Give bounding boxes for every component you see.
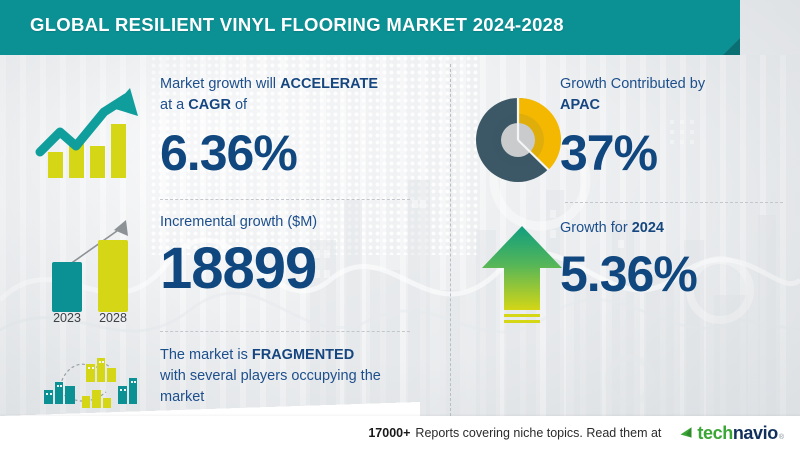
growth-2024-caption: Growth for 2024 xyxy=(560,218,790,239)
fragmented-market-cityscape-icon xyxy=(26,348,144,410)
panel-incremental-growth: Incremental growth ($M) 18899 xyxy=(160,212,435,302)
cagr-caption-accelerate: ACCELERATE xyxy=(280,76,378,92)
cagr-caption-line2-prefix: at a xyxy=(160,97,188,113)
fragmented-caption: The market is FRAGMENTED with several pl… xyxy=(160,345,440,408)
header-banner: GLOBAL RESILIENT VINYL FLOORING MARKET 2… xyxy=(0,0,740,55)
cagr-caption-cagr: CAGR xyxy=(188,97,231,113)
panel-growth-2024: Growth for 2024 5.36% xyxy=(560,218,790,303)
bar-label-2028: 2028 xyxy=(99,311,127,322)
logo-text-navio: navio xyxy=(733,423,778,444)
incremental-growth-value: 18899 xyxy=(160,235,435,302)
cagr-value: 6.36% xyxy=(160,124,435,182)
fragmented-line1-prefix: The market is xyxy=(160,347,252,363)
fragmented-line2: with several players occupying the xyxy=(160,368,381,384)
growth-2024-year: 2024 xyxy=(632,220,664,236)
infographic-canvas: GLOBAL RESILIENT VINYL FLOORING MARKET 2… xyxy=(0,0,800,450)
footer-tagline: Reports covering niche topics. Read them… xyxy=(415,426,661,440)
fragmented-strong: FRAGMENTED xyxy=(252,347,354,363)
divider-left-2 xyxy=(160,331,410,332)
apac-caption: Growth Contributed by APAC xyxy=(560,74,790,116)
panel-cagr: Market growth will ACCELERATE at a CAGR … xyxy=(160,74,435,182)
footer-bevel xyxy=(0,402,420,416)
donut-chart-icon xyxy=(470,92,566,188)
cagr-caption: Market growth will ACCELERATE at a CAGR … xyxy=(160,74,435,116)
logo-text-tech: tech xyxy=(697,423,732,444)
growth-2024-value: 5.36% xyxy=(560,245,790,303)
bar-label-2023: 2023 xyxy=(53,311,81,322)
page-title: GLOBAL RESILIENT VINYL FLOORING MARKET 2… xyxy=(30,14,564,36)
technavio-logo[interactable]: tech navio ® xyxy=(679,423,784,444)
apac-caption-line1: Growth Contributed by xyxy=(560,76,705,92)
technavio-flag-icon xyxy=(679,425,695,444)
logo-registered-mark: ® xyxy=(779,434,784,441)
growth-arrow-chart-icon xyxy=(26,82,144,182)
cagr-caption-line2-suffix: of xyxy=(231,97,247,113)
report-count: 17000+ xyxy=(368,426,410,440)
footer-bar: 17000+ Reports covering niche topics. Re… xyxy=(0,416,800,450)
upward-arrow-icon xyxy=(474,222,570,328)
apac-caption-region: APAC xyxy=(560,97,600,113)
growth-2024-prefix: Growth for xyxy=(560,220,632,236)
column-divider xyxy=(450,64,451,416)
cagr-caption-line1-prefix: Market growth will xyxy=(160,76,280,92)
divider-left-1 xyxy=(160,199,410,200)
panel-fragmented-market: The market is FRAGMENTED with several pl… xyxy=(160,345,440,408)
panel-apac-contribution: Growth Contributed by APAC 37% xyxy=(560,74,790,182)
apac-value: 37% xyxy=(560,124,790,182)
incremental-growth-label: Incremental growth ($M) xyxy=(160,212,435,233)
footer-content: 17000+ Reports covering niche topics. Re… xyxy=(368,423,800,444)
divider-right-1 xyxy=(565,202,783,203)
bar-comparison-icon: 2023 2028 xyxy=(26,210,144,322)
